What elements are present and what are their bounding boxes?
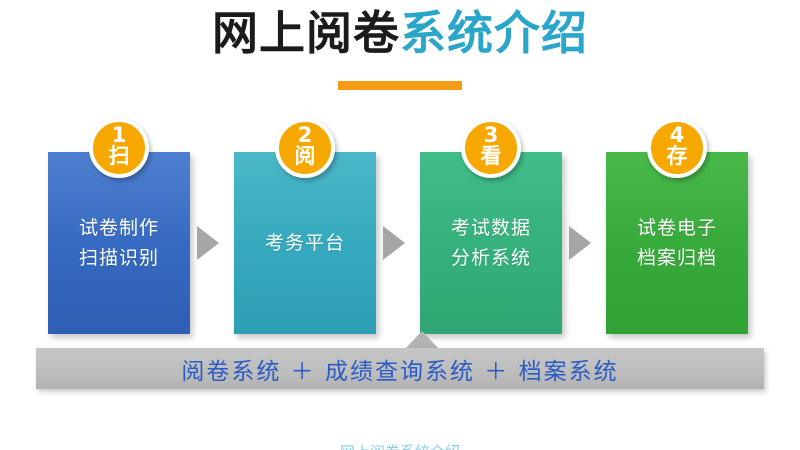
page-title-accent: 系统介绍	[400, 6, 588, 60]
title-underline-bar	[338, 81, 462, 90]
flow-step-1-line-2: 扫描识别	[79, 243, 159, 273]
flow-step-3[interactable]: 考试数据 分析系统	[420, 152, 562, 334]
flow-step-1-text: 试卷制作 扫描识别	[79, 213, 159, 273]
flow-step-4[interactable]: 试卷电子 档案归档	[606, 152, 748, 334]
flow-step-3-badge-char: 看	[481, 145, 502, 168]
flow-step-3-line-2: 分析系统	[451, 243, 531, 273]
page-title-primary: 网上阅卷	[212, 6, 400, 60]
slide-canvas: 网上阅卷系统介绍 试卷制作 扫描识别 1 扫 考务平台 2 阅 考试数据 分析系…	[0, 0, 800, 450]
flow-step-4-badge-number: 4	[670, 126, 685, 145]
flow-step-4-line-2: 档案归档	[637, 243, 717, 273]
flow-step-1-line-1: 试卷制作	[79, 213, 159, 243]
triangle-right-icon-2	[383, 226, 405, 260]
triangle-right-icon-3	[569, 226, 591, 260]
flow-step-2-badge-number: 2	[298, 126, 313, 145]
flow-step-4-badge-char: 存	[667, 145, 688, 168]
flow-step-3-line-1: 考试数据	[451, 213, 531, 243]
triangle-right-icon-1	[197, 226, 219, 260]
flow-step-2-text: 考务平台	[265, 228, 345, 258]
footnote-text: 网上阅卷系统介绍	[0, 441, 800, 450]
summary-bar-label: 阅卷系统 ＋ 成绩查询系统 ＋ 档案系统	[181, 352, 618, 386]
flow-step-4-line-1: 试卷电子	[637, 213, 717, 243]
flow-step-3-badge-number: 3	[484, 126, 499, 145]
flow-step-3-badge: 3 看	[461, 118, 521, 178]
flow-step-1-badge: 1 扫	[89, 118, 149, 178]
flow-step-2-badge-char: 阅	[295, 145, 316, 168]
flow-step-2-badge: 2 阅	[275, 118, 335, 178]
summary-bar: 阅卷系统 ＋ 成绩查询系统 ＋ 档案系统	[36, 348, 764, 389]
flow-step-2-line-1: 考务平台	[265, 228, 345, 258]
flow-step-4-text: 试卷电子 档案归档	[637, 213, 717, 273]
flow-step-4-badge: 4 存	[647, 118, 707, 178]
page-title: 网上阅卷系统介绍	[0, 2, 800, 64]
flow-step-3-text: 考试数据 分析系统	[451, 213, 531, 273]
flow-step-2[interactable]: 考务平台	[234, 152, 376, 334]
flow-step-1[interactable]: 试卷制作 扫描识别	[48, 152, 190, 334]
flow-step-1-badge-number: 1	[112, 126, 127, 145]
flow-step-1-badge-char: 扫	[109, 145, 130, 168]
